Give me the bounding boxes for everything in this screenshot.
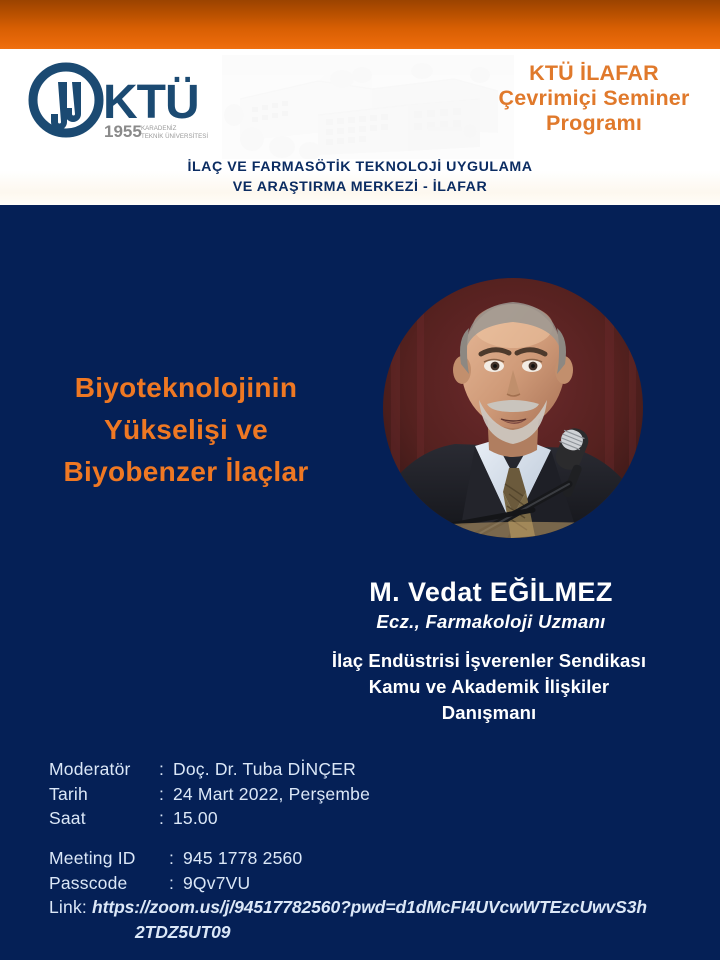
seminar-title-line-1: Biyoteknolojinin xyxy=(6,367,366,409)
detail-label-time: Saat xyxy=(49,806,159,831)
detail-label-moderator: Moderatör xyxy=(49,757,159,782)
seminar-title: Biyoteknolojinin Yükselişi ve Biyobenzer… xyxy=(6,367,366,493)
speaker-portrait-photo xyxy=(383,278,643,538)
speaker-affiliation: İlaç Endüstrisi İşverenler Sendikası Kam… xyxy=(258,648,720,726)
meeting-id-label: Meeting ID xyxy=(49,846,169,871)
meeting-id-row: Meeting ID : 945 1778 2560 xyxy=(49,846,709,871)
meeting-link-label: Link: xyxy=(49,897,87,917)
speaker-role: Ecz., Farmakoloji Uzmanı xyxy=(262,611,720,633)
svg-text:KARADENİZ: KARADENİZ xyxy=(141,125,177,132)
center-name-line-1: İLAÇ VE FARMASÖTİK TEKNOLOJİ UYGULAMA xyxy=(0,157,720,177)
svg-text:TEKNİK ÜNİVERSİTESİ: TEKNİK ÜNİVERSİTESİ xyxy=(141,133,208,140)
detail-row-moderator: Moderatör : Doç. Dr. Tuba DİNÇER xyxy=(49,757,649,782)
detail-value-moderator: Doç. Dr. Tuba DİNÇER xyxy=(173,757,649,782)
seminar-title-line-3: Biyobenzer İlaçlar xyxy=(6,451,366,493)
svg-text:1955: 1955 xyxy=(104,122,142,141)
detail-row-time: Saat : 15.00 xyxy=(49,806,649,831)
passcode-label: Passcode xyxy=(49,871,169,896)
speaker-name: M. Vedat EĞİLMEZ xyxy=(262,577,720,608)
header-title-line-1: KTÜ İLAFAR xyxy=(478,61,710,86)
zoom-meeting-details: Meeting ID : 945 1778 2560 Passcode : 9Q… xyxy=(49,846,709,944)
passcode-colon: : xyxy=(169,871,183,896)
speaker-affiliation-line-3: Danışmanı xyxy=(258,700,720,726)
detail-colon-moderator: : xyxy=(159,757,173,782)
seminar-title-line-2: Yükselişi ve xyxy=(6,409,366,451)
detail-row-date: Tarih : 24 Mart 2022, Perşembe xyxy=(49,782,649,807)
speaker-affiliation-line-2: Kamu ve Akademik İlişkiler xyxy=(258,674,720,700)
meeting-link-url-line-1[interactable]: https://zoom.us/j/94517782560?pwd=d1dMcF… xyxy=(92,897,647,917)
poster-body: Biyoteknolojinin Yükselişi ve Biyobenzer… xyxy=(0,205,720,960)
meeting-id-value: 945 1778 2560 xyxy=(183,846,709,871)
passcode-value: 9Qv7VU xyxy=(183,871,709,896)
research-center-name: İLAÇ VE FARMASÖTİK TEKNOLOJİ UYGULAMA VE… xyxy=(0,157,720,197)
detail-label-date: Tarih xyxy=(49,782,159,807)
poster-header: KTÜ 1955 KARADENİZ TEKNİK ÜNİVERSİTESİ K… xyxy=(0,49,720,205)
passcode-row: Passcode : 9Qv7VU xyxy=(49,871,709,896)
center-name-line-2: VE ARAŞTIRMA MERKEZİ - İLAFAR xyxy=(0,177,720,197)
header-title-line-3: Programı xyxy=(478,111,710,136)
detail-value-time: 15.00 xyxy=(173,806,649,831)
meeting-id-colon: : xyxy=(169,846,183,871)
ktu-monogram-logo: KTÜ 1955 KARADENİZ TEKNİK ÜNİVERSİTESİ xyxy=(28,60,214,146)
speaker-affiliation-line-1: İlaç Endüstrisi İşverenler Sendikası xyxy=(258,648,720,674)
ilafar-building-photo-watermark xyxy=(222,55,514,159)
meeting-link-url-line-2[interactable]: 2TDZ5UT09 xyxy=(49,920,709,945)
header-title-line-2: Çevrimiçi Seminer xyxy=(478,86,710,111)
header-program-title: KTÜ İLAFAR Çevrimiçi Seminer Programı xyxy=(478,61,710,136)
detail-colon-time: : xyxy=(159,806,173,831)
meeting-link-row[interactable]: Link: https://zoom.us/j/94517782560?pwd=… xyxy=(49,895,709,944)
event-details: Moderatör : Doç. Dr. Tuba DİNÇER Tarih :… xyxy=(49,757,649,831)
top-orange-band xyxy=(0,0,720,49)
detail-colon-date: : xyxy=(159,782,173,807)
detail-value-date: 24 Mart 2022, Perşembe xyxy=(173,782,649,807)
